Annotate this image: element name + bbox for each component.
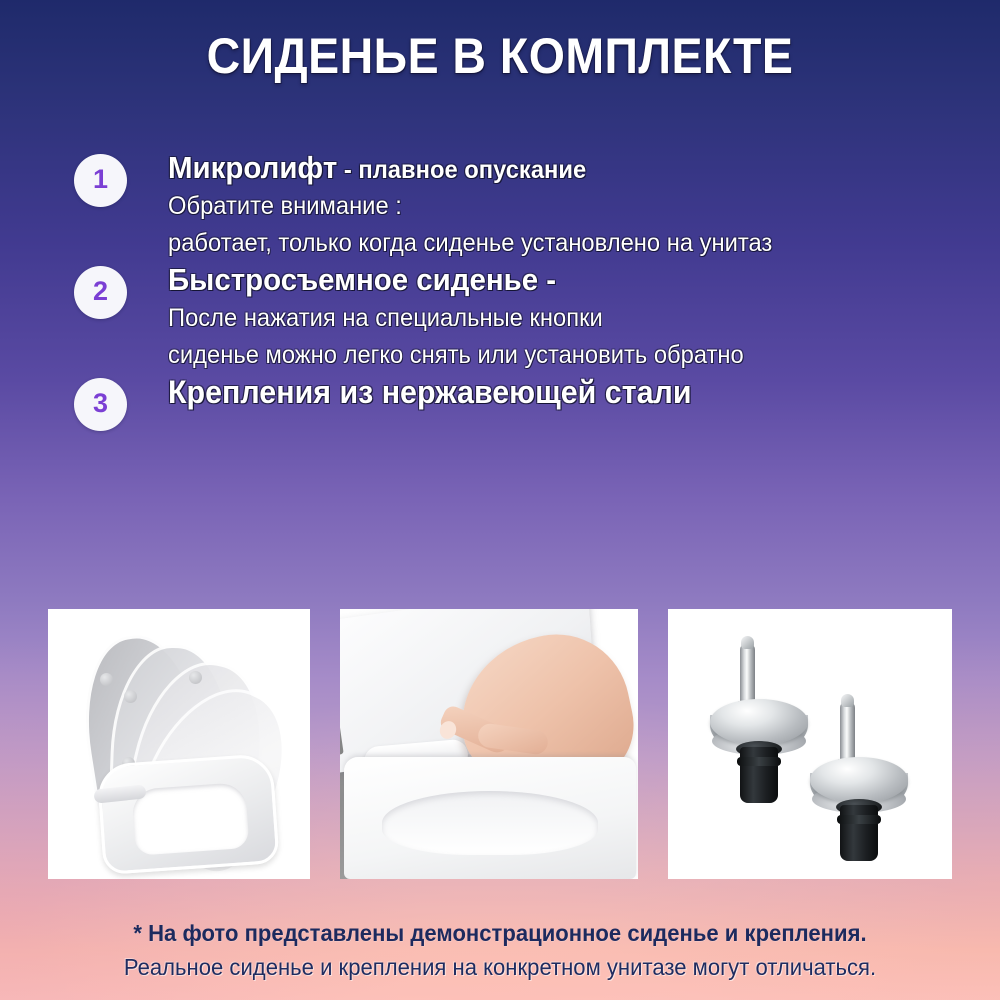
feature-line-1-0: Обратите внимание : — [168, 188, 958, 225]
photo-gallery — [48, 609, 952, 879]
feature-badge-1: 1 — [74, 154, 127, 207]
feature-heading-1: Микролифт - плавное опускание — [168, 150, 958, 188]
toilet-seat-front — [344, 757, 636, 879]
feature-title-suffix-1: - плавное опускание — [337, 156, 586, 184]
fixing-pin — [740, 643, 755, 707]
rubber-expansion-plug — [840, 805, 878, 861]
soft-close-seat-photo — [48, 609, 310, 879]
feature-title-3: Крепления из нержавеющей стали — [168, 374, 692, 410]
footer-line-1: * На фото представлены демонстрационное … — [20, 916, 980, 950]
page-title: СИДЕНЬЕ В КОМПЛЕКТЕ — [35, 26, 965, 86]
fixing-pin — [840, 701, 855, 765]
fixing-disc-top — [710, 699, 808, 745]
feature-title-1: Микролифт — [168, 150, 337, 185]
feature-heading-3: Крепления из нержавеющей стали — [168, 374, 958, 412]
rubber-expansion-plug — [740, 747, 778, 803]
feature-title-2: Быстросъемное сиденье - — [168, 262, 556, 297]
feature-line-2-0: После нажатия на специальные кнопки — [168, 300, 958, 337]
feature-line-1-1: работает, только когда сиденье установле… — [168, 225, 958, 262]
feature-item-2: 2 Быстросъемное сиденье - После нажатия … — [0, 262, 1000, 374]
seat-motion-illustration — [48, 609, 310, 879]
footer-disclaimer: * На фото представлены демонстрационное … — [0, 916, 1000, 984]
fixing-disc-top — [810, 757, 908, 803]
feature-list: 1 Микролифт - плавное опускание Обратите… — [0, 150, 1000, 412]
footer-line-2: Реальное сиденье и крепления на конкретн… — [20, 950, 980, 984]
feature-badge-2: 2 — [74, 266, 127, 319]
seat-removal-illustration — [340, 609, 638, 879]
seat-bumper-icon — [124, 690, 137, 703]
stainless-fixings-photo — [668, 609, 952, 879]
feature-item-3: 3 Крепления из нержавеющей стали — [0, 374, 1000, 412]
seat-bumper-icon — [100, 673, 113, 686]
feature-badge-3: 3 — [74, 378, 127, 431]
quick-release-seat-photo — [340, 609, 638, 879]
seat-bumper-icon — [189, 671, 202, 684]
feature-heading-2: Быстросъемное сиденье - — [168, 262, 958, 300]
seat-ring — [96, 753, 279, 875]
feature-item-1: 1 Микролифт - плавное опускание Обратите… — [0, 150, 1000, 262]
feature-line-2-1: сиденье можно легко снять или установить… — [168, 337, 958, 374]
